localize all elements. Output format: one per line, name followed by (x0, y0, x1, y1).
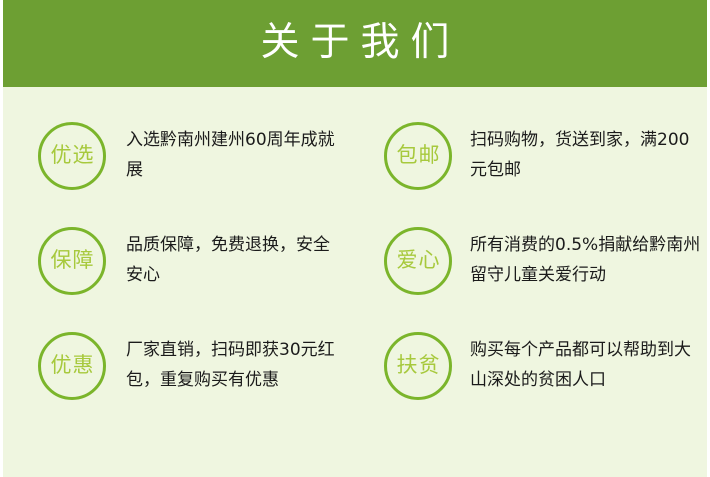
badge-circle-baozhang: 保障 (38, 227, 106, 295)
feature-description: 扫码购物，货送到家，满200元包邮 (470, 125, 703, 185)
left-edge-rail (0, 0, 3, 477)
feature-item-baozhang: 保障 品质保障，免费退换，安全安心 (3, 214, 345, 319)
page-title: 关于我们 (249, 23, 460, 64)
about-us-page: 关于我们 优选 入选黔南州建州60周年成就展 包邮 扫码购物，货送到家，满200… (0, 0, 710, 477)
badge-circle-youxuan: 优选 (38, 122, 106, 190)
badge-circle-youhui: 优惠 (38, 332, 106, 400)
badge-label: 保障 (50, 250, 95, 272)
badge-label: 优惠 (50, 355, 95, 377)
badge-circle-fupin: 扶贫 (384, 332, 452, 400)
badge-label: 包邮 (396, 145, 441, 167)
feature-item-fupin: 扶贫 购买每个产品都可以帮助到大山深处的贫困人口 (361, 319, 703, 424)
badge-label: 优选 (50, 145, 95, 167)
badge-circle-aixin: 爱心 (384, 227, 452, 295)
feature-description: 品质保障，免费退换，安全安心 (126, 230, 345, 290)
badge-label: 爱心 (396, 250, 441, 272)
feature-item-youhui: 优惠 厂家直销，扫码即获30元红包，重复购买有优惠 (3, 319, 345, 424)
feature-item-baoyou: 包邮 扫码购物，货送到家，满200元包邮 (361, 109, 703, 214)
badge-label: 扶贫 (396, 355, 441, 377)
badge-circle-baoyou: 包邮 (384, 122, 452, 190)
feature-description: 所有消费的0.5%捐献给黔南州留守儿童关爱行动 (470, 230, 703, 290)
feature-description: 入选黔南州建州60周年成就展 (126, 125, 345, 185)
feature-item-aixin: 爱心 所有消费的0.5%捐献给黔南州留守儿童关爱行动 (361, 214, 703, 319)
feature-description: 厂家直销，扫码即获30元红包，重复购买有优惠 (126, 335, 345, 395)
feature-item-youxuan: 优选 入选黔南州建州60周年成就展 (3, 109, 345, 214)
feature-description: 购买每个产品都可以帮助到大山深处的贫困人口 (470, 335, 703, 395)
page-header-banner: 关于我们 (3, 0, 707, 87)
features-grid: 优选 入选黔南州建州60周年成就展 包邮 扫码购物，货送到家，满200元包邮 保… (3, 87, 707, 477)
